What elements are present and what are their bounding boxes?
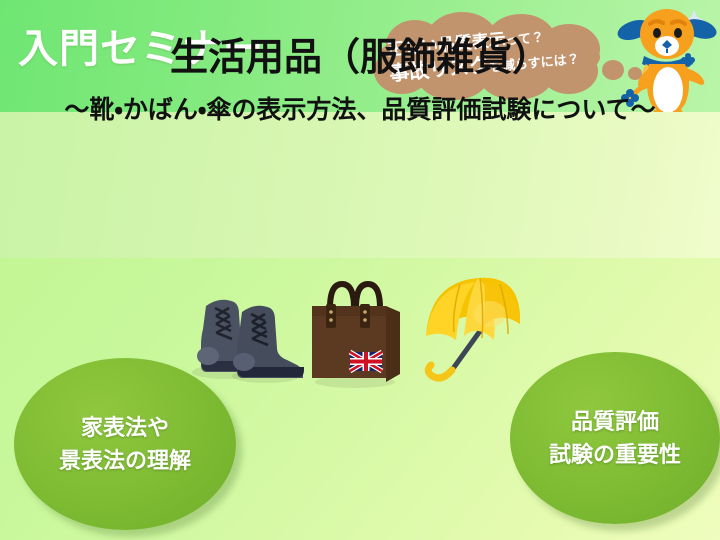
boots-illustration <box>186 276 306 391</box>
umbrella-illustration <box>412 266 532 401</box>
slide-canvas: 入門セミナー 正しい品質表示って？ 事故リスクを減らすには？ <box>0 0 720 540</box>
callout-right-line1: 品質評価 <box>571 405 659 438</box>
union-jack-patch <box>350 352 382 371</box>
callout-right: 品質評価 試験の重要性 <box>510 352 720 524</box>
callout-left: 家表法や 景表法の理解 <box>14 358 236 530</box>
page-subtitle: 〜靴・かばん・傘の表示方法、品質評価試験について〜 <box>0 90 720 126</box>
bag-illustration <box>300 270 410 395</box>
title-band <box>0 112 720 258</box>
callout-left-line1: 家表法や <box>81 411 169 444</box>
page-title: 生活用品（服飾雑貨） <box>0 26 720 81</box>
callout-left-line2: 景表法の理解 <box>59 444 191 477</box>
callout-right-line2: 試験の重要性 <box>549 438 681 471</box>
